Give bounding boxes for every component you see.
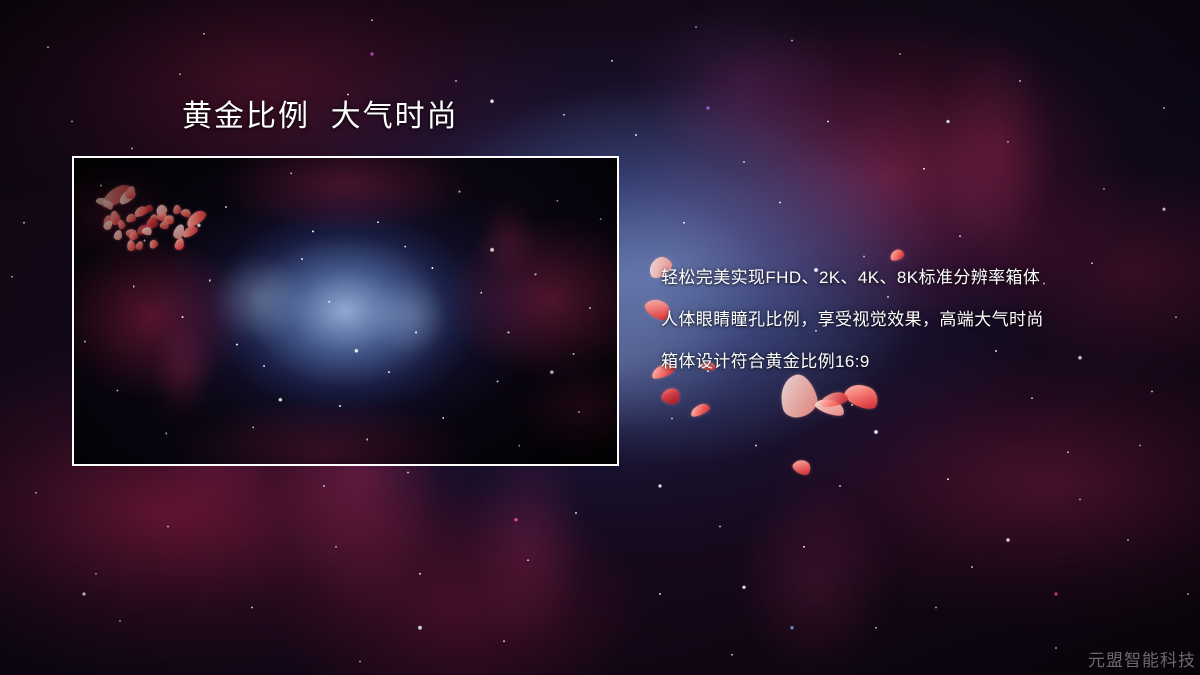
petal [180,207,193,219]
feature-line-2: 人体眼睛瞳孔比例，享受视觉效果，高端大气时尚 [661,299,1044,341]
petal [135,240,144,251]
petal [155,203,169,216]
petal [116,219,126,230]
petal [184,208,208,229]
petal [842,379,882,413]
petal [163,214,175,226]
petal [98,181,135,210]
petal [101,198,115,211]
petal [126,239,136,251]
petal [149,213,157,223]
company-watermark: 元盟智能科技 [1088,646,1196,671]
petal [125,213,136,223]
petal [145,217,159,230]
image-vignette [74,158,617,464]
petal [117,188,137,207]
petal [814,395,847,418]
petal [660,386,682,407]
feature-line-3: 箱体设计符合黄金比例16:9 [661,341,1044,383]
petal [819,390,849,409]
petal [103,214,112,225]
petal [108,210,122,226]
petal [133,205,149,219]
page-title: 黄金比例 大气时尚 [182,100,459,133]
feature-description: 轻松完美实现FHD、2K、4K、8K标准分辨率箱体 人体眼睛瞳孔比例，享受视觉效… [661,257,1044,383]
petal [791,456,814,477]
slide-canvas: 黄金比例 大气时尚 轻松完美实现FHD、2K、4K、8K标准分辨率箱体 人体眼睛… [0,0,1200,675]
petal [95,196,109,207]
petal [156,210,169,222]
petal [145,205,153,212]
petal [136,224,151,236]
petal [141,225,153,236]
petal [148,238,160,249]
feature-line-1: 轻松完美实现FHD、2K、4K、8K标准分辨率箱体 [661,257,1044,299]
image-starfield [74,158,617,464]
image-nebula-wisps [74,158,617,464]
petal [124,227,138,240]
petal [174,237,185,250]
petal [125,185,137,200]
petal [102,219,114,231]
petal [172,223,186,240]
petal [172,204,181,214]
petal [113,229,122,240]
petal [128,231,139,242]
framed-galaxy-image [72,156,619,466]
petal [181,224,199,239]
petal [159,220,170,230]
petal [689,402,711,419]
image-petal-group [74,158,617,464]
image-nebula [74,158,617,464]
